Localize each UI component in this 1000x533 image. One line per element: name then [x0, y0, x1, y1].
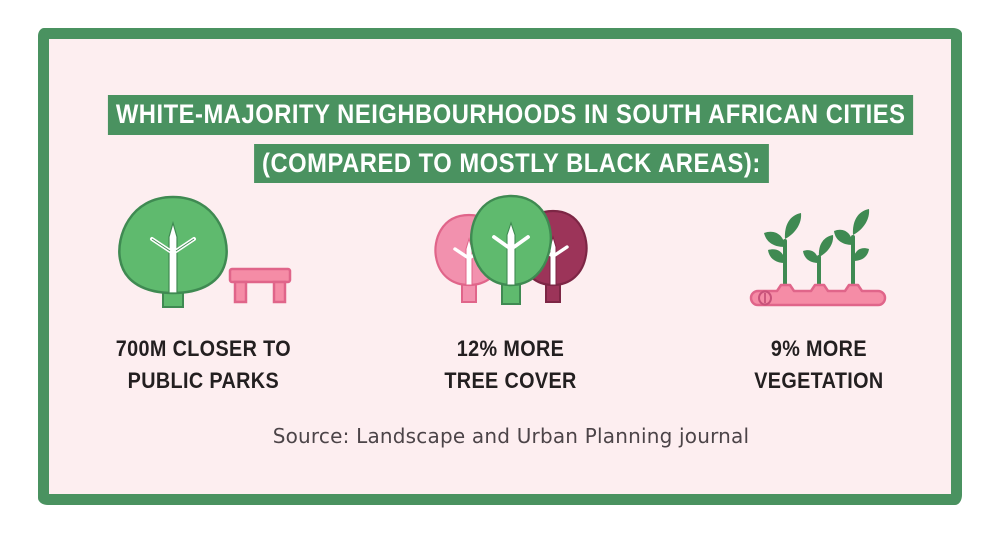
title-line-2: (COMPARED TO MOSTLY BLACK AREAS): — [254, 144, 769, 184]
infographic-root: WHITE-MAJORITY NEIGHBOURHOODS IN SOUTH A… — [0, 0, 1000, 533]
green-frame-border: WHITE-MAJORITY NEIGHBOURHOODS IN SOUTH A… — [38, 28, 962, 505]
three-trees-svg — [431, 193, 591, 311]
infographic-content: WHITE-MAJORITY NEIGHBOURHOODS IN SOUTH A… — [49, 39, 973, 516]
tree-and-bench-svg — [108, 193, 298, 311]
stat-label-parks: 700M CLOSER TO PUBLIC PARKS — [115, 333, 290, 397]
tree-and-bench-icon — [108, 191, 298, 311]
stat-label-tree-cover: 12% MORE TREE COVER — [445, 333, 577, 397]
stat-item-parks: 700M CLOSER TO PUBLIC PARKS — [58, 191, 348, 397]
page-title: WHITE-MAJORITY NEIGHBOURHOODS IN SOUTH A… — [49, 95, 973, 183]
stat-item-vegetation: 9% MORE VEGETATION — [674, 191, 964, 397]
stat-item-tree-cover: 12% MORE TREE COVER — [366, 191, 656, 397]
stat-label-vegetation: 9% MORE VEGETATION — [754, 333, 883, 397]
source-caption: Source: Landscape and Urban Planning jou… — [49, 424, 973, 448]
turf-seedlings-icon — [744, 191, 894, 311]
turf-seedlings-svg — [744, 193, 894, 311]
three-trees-icon — [431, 191, 591, 311]
stats-row: 700M CLOSER TO PUBLIC PARKS — [49, 191, 973, 397]
title-line-1: WHITE-MAJORITY NEIGHBOURHOODS IN SOUTH A… — [108, 95, 913, 135]
